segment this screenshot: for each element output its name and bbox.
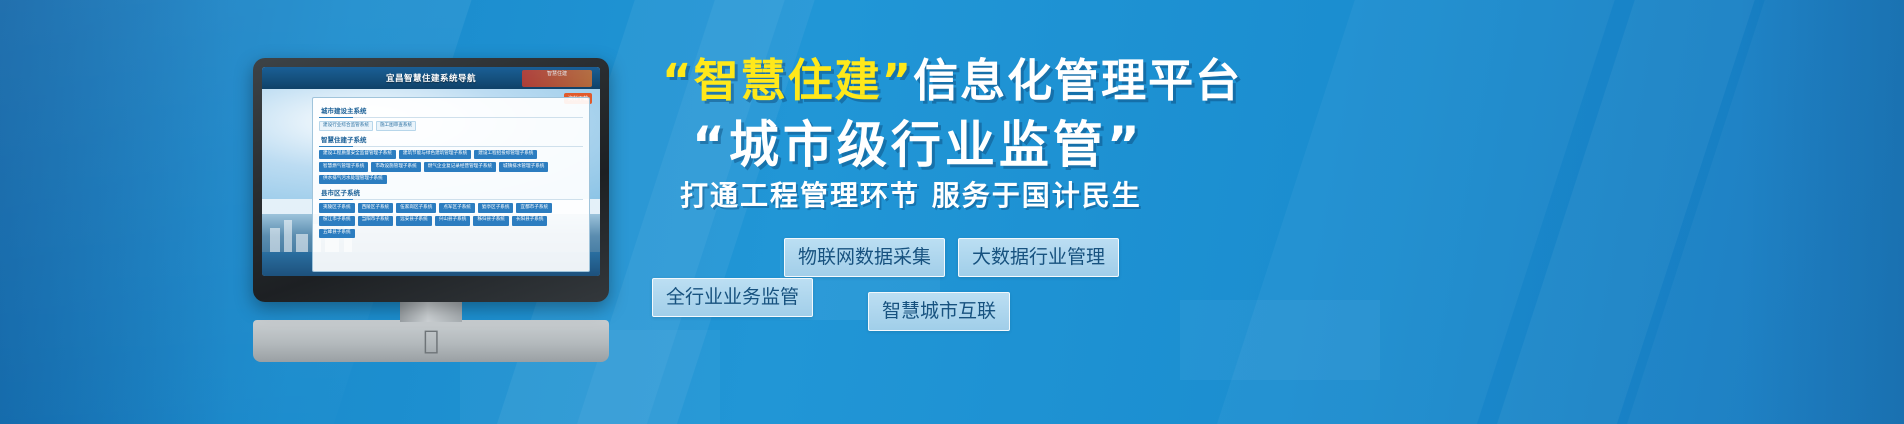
portal-nav-chip[interactable]: 点军区子系统 [439,203,475,213]
banner-copy: “智慧住建”信息化管理平台 “城市级行业监管” 打通工程管理环节 服务于国计民生… [640,0,1904,424]
headline-line-1-rest: 信息化管理平台 [913,54,1242,107]
portal-nav-chip[interactable]: 枝江市子系统 [319,216,355,226]
promo-banner:  宜昌智慧住建系统导航 智慧住建 资料下载 [0,0,1904,424]
portal-nav-chip[interactable]: 市政设施管理子系统 [371,162,420,172]
portal-nav-chip[interactable]: 建设工程招投标管理子系统 [474,150,537,160]
portal-section-heading-2: 县市区子系统 [321,187,583,197]
monitor-bezel: 宜昌智慧住建系统导航 智慧住建 资料下载 城市建设主系统 建设行业综合监管系统 … [253,58,609,302]
portal-section-rule-0 [319,117,583,118]
monitor-stand-neck [400,300,462,322]
portal-logo-label: 智慧住建 [522,70,592,78]
headline-line-1-quoted: “智慧住建” [662,54,913,107]
portal-nav-chip[interactable]: 城镇排水管理子系统 [499,162,548,172]
tag-smart-city-interconnect[interactable]: 智慧城市互联 [868,292,1010,331]
portal-section-items-2: 夷陵区子系统 西陵区子系统 伍家岗区子系统 点军区子系统 猇亭区子系统 宜都市子… [319,203,583,238]
portal-nav-chip[interactable]: 秭归县子系统 [473,216,509,226]
monitor-screen: 宜昌智慧住建系统导航 智慧住建 资料下载 城市建设主系统 建设行业综合监管系统 … [262,67,600,276]
portal-nav-chip[interactable]: 建设行业综合监管系统 [319,121,373,131]
portal-nav-panel: 城市建设主系统 建设行业综合监管系统 施工图审查系统 智慧住建子系统 建设工程质… [312,97,590,272]
portal-section-heading-1: 智慧住建子系统 [321,134,583,144]
portal-section-rule-2 [319,199,583,200]
portal-nav-chip[interactable]: 宜都市子系统 [516,203,552,213]
tag-bigdata-industry-management[interactable]: 大数据行业管理 [958,238,1119,277]
portal-nav-chip[interactable]: 伍家岗区子系统 [396,203,436,213]
bg-shade-left [0,0,230,424]
headline-line-1: “智慧住建”信息化管理平台 [662,44,1862,109]
imac-monitor-mockup:  宜昌智慧住建系统导航 智慧住建 资料下载 [253,58,609,302]
portal-nav-chip[interactable]: 远安县子系统 [396,216,432,226]
portal-nav-chip[interactable]: 智慧燃气管理子系统 [319,162,368,172]
portal-section-rule-1 [319,146,583,147]
tag-iot-data-collection[interactable]: 物联网数据采集 [784,238,945,277]
portal-nav-chip[interactable]: 西陵区子系统 [358,203,394,213]
portal-nav-chip[interactable]: 五峰县子系统 [319,229,355,239]
tag-all-industry-supervision[interactable]: 全行业业务监管 [652,278,813,317]
portal-nav-chip[interactable]: 猇亭区子系统 [478,203,514,213]
portal-nav-chip[interactable]: 夷陵区子系统 [319,203,355,213]
portal-nav-chip[interactable]: 建筑节能与绿色建筑管理子系统 [399,150,471,160]
headline-line-2: “城市级行业监管” [692,105,1892,177]
banner-subtitle: 打通工程管理环节 服务于国计民生 [680,174,1880,214]
portal-section-items-1: 建设工程质量安全监督管理子系统 建筑节能与绿色建筑管理子系统 建设工程招投标管理… [319,150,583,185]
portal-nav-chip[interactable]: 施工图审查系统 [376,121,416,131]
portal-nav-chip[interactable]: 兴山县子系统 [435,216,471,226]
apple-logo-icon:  [423,328,439,354]
portal-nav-chip[interactable]: 建设工程质量安全监督管理子系统 [319,150,396,160]
portal-logo: 智慧住建 [522,70,592,87]
portal-nav-chip[interactable]: 燃气企业复记录经营管理子系统 [424,162,496,172]
portal-nav-chip[interactable]: 当阳市子系统 [358,216,394,226]
portal-nav-chip[interactable]: 长阳县子系统 [512,216,548,226]
portal-section-heading-0: 城市建设主系统 [321,105,583,115]
portal-nav-chip[interactable]: 供水排气污水处理管理子系统 [319,175,387,185]
portal-section-items-0: 建设行业综合监管系统 施工图审查系统 [319,121,583,131]
